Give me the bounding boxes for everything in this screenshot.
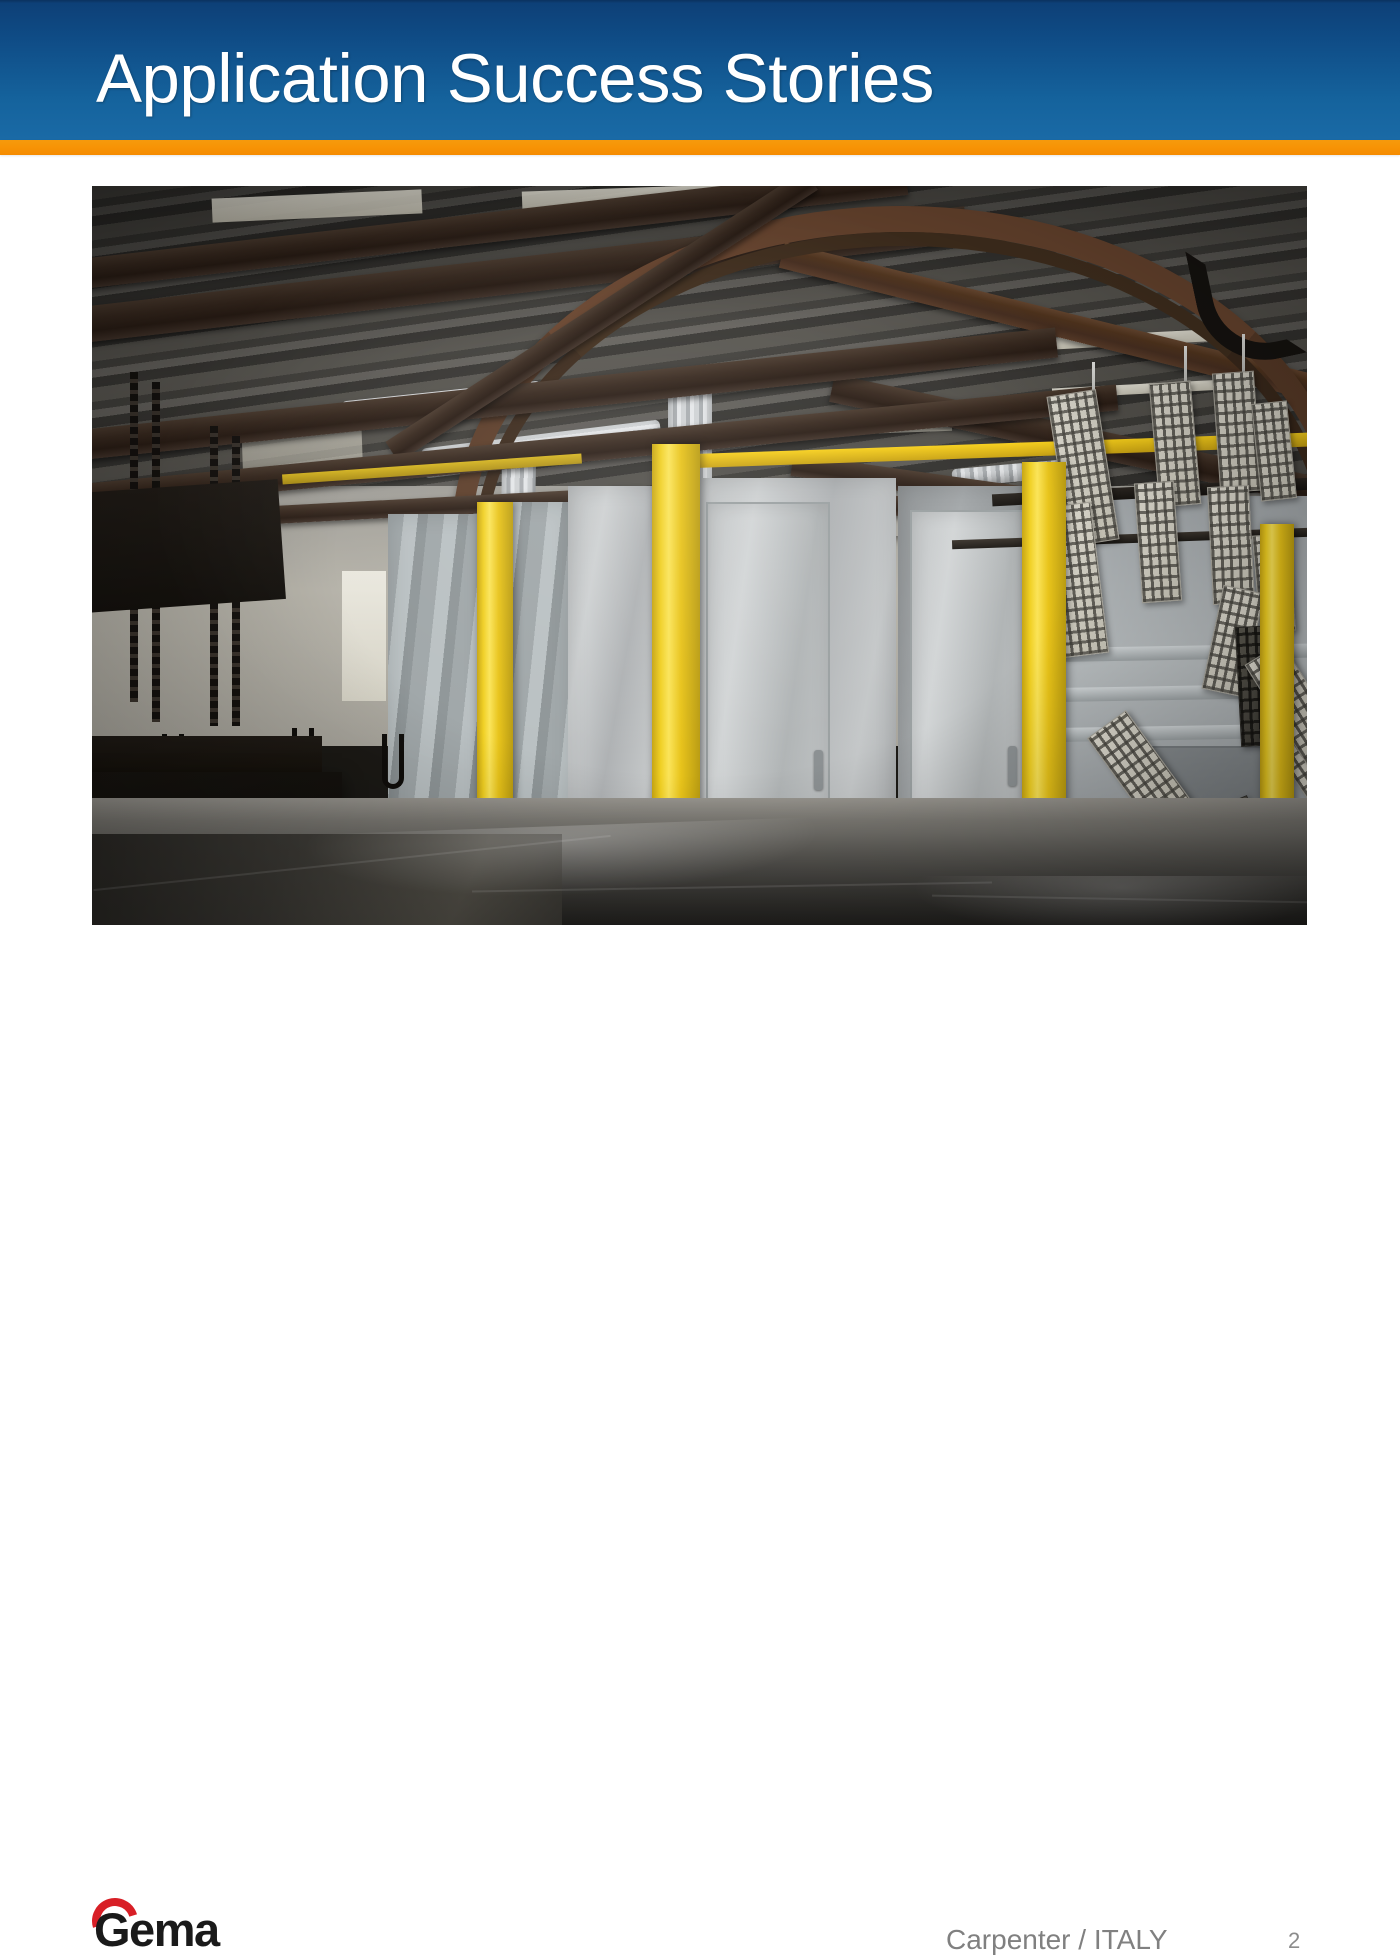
- booth-door-handle: [814, 750, 823, 790]
- page-title: Application Success Stories: [96, 44, 934, 113]
- header-accent-bar: [0, 140, 1400, 155]
- slide-number: 2: [1288, 1928, 1300, 1954]
- overhead-carrier-rig: [92, 479, 286, 613]
- slide-footer: Gema Carpenter / ITALY 2: [0, 940, 1400, 1050]
- factory-hall-photo: [92, 186, 1307, 925]
- carrier-hook: [382, 734, 404, 789]
- slide-header-banner: Application Success Stories: [0, 0, 1400, 140]
- booth-door-handle: [1008, 746, 1017, 786]
- footer-caption: Carpenter / ITALY: [946, 1924, 1168, 1956]
- gema-logo: Gema: [90, 1898, 290, 1960]
- hall-window: [342, 571, 386, 701]
- slide: Application Success Stories: [0, 0, 1400, 1050]
- logo-wordmark: Gema: [94, 1906, 219, 1953]
- hanging-grate-part: [1134, 481, 1182, 603]
- slide-photo: [92, 186, 1307, 925]
